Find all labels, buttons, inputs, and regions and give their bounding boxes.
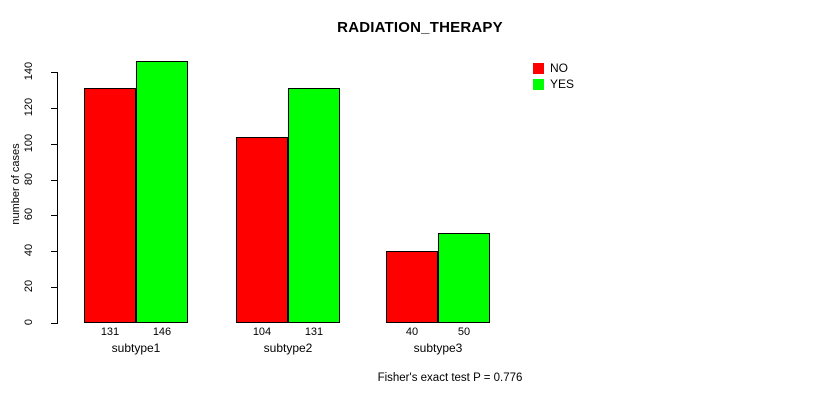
statistical-test-annotation: Fisher's exact test P = 0.776 bbox=[0, 372, 840, 384]
x-axis-group-label-subtype2: subtype2 bbox=[236, 341, 340, 355]
bar-value-label: 50 bbox=[438, 326, 490, 338]
y-axis-tick bbox=[51, 72, 58, 73]
legend-label-no: NO bbox=[550, 62, 568, 74]
bar-value-label: 104 bbox=[236, 326, 288, 338]
bar-group bbox=[386, 59, 490, 323]
legend-item-no: NO bbox=[533, 60, 574, 76]
y-axis-tick-label: 100 bbox=[23, 126, 35, 160]
legend-item-yes: YES bbox=[533, 76, 574, 92]
bar-subtype3-no bbox=[386, 251, 438, 323]
x-axis-group-label-subtype3: subtype3 bbox=[386, 341, 490, 355]
legend-swatch-yes bbox=[533, 79, 544, 90]
y-axis-tick-label: 120 bbox=[23, 90, 35, 124]
x-axis-group-label-subtype1: subtype1 bbox=[84, 341, 188, 355]
y-axis-tick bbox=[51, 108, 58, 109]
bar-subtype1-yes bbox=[136, 61, 188, 323]
y-axis-tick-label: 60 bbox=[23, 197, 35, 231]
bar-subtype3-yes bbox=[438, 233, 490, 323]
bar-value-label: 40 bbox=[386, 326, 438, 338]
y-axis-title: number of cases bbox=[10, 124, 22, 244]
y-axis-tick bbox=[51, 215, 58, 216]
chart-legend: NO YES bbox=[533, 60, 574, 92]
y-axis-tick-label: 140 bbox=[23, 54, 35, 88]
bar-subtype1-no bbox=[84, 88, 136, 323]
chart-title: RADIATION_THERAPY bbox=[0, 19, 840, 36]
y-axis-tick bbox=[51, 323, 58, 324]
y-axis-tick-label: 0 bbox=[23, 305, 35, 339]
legend-label-yes: YES bbox=[550, 78, 574, 90]
bar-subtype2-no bbox=[236, 137, 288, 323]
bar-subtype2-yes bbox=[288, 88, 340, 323]
y-axis-tick bbox=[51, 287, 58, 288]
y-axis-tick bbox=[51, 144, 58, 145]
legend-swatch-no bbox=[533, 63, 544, 74]
y-axis-tick-label: 40 bbox=[23, 233, 35, 267]
y-axis-tick bbox=[51, 251, 58, 252]
bar-group bbox=[236, 59, 340, 323]
chart-canvas: RADIATION_THERAPY 020406080100120140 num… bbox=[0, 0, 840, 400]
y-axis-tick bbox=[51, 180, 58, 181]
bar-value-label: 131 bbox=[288, 326, 340, 338]
bar-group bbox=[84, 59, 188, 323]
y-axis-tick-label: 80 bbox=[23, 162, 35, 196]
bar-value-label: 146 bbox=[136, 326, 188, 338]
bar-value-label: 131 bbox=[84, 326, 136, 338]
y-axis-tick-label: 20 bbox=[23, 269, 35, 303]
